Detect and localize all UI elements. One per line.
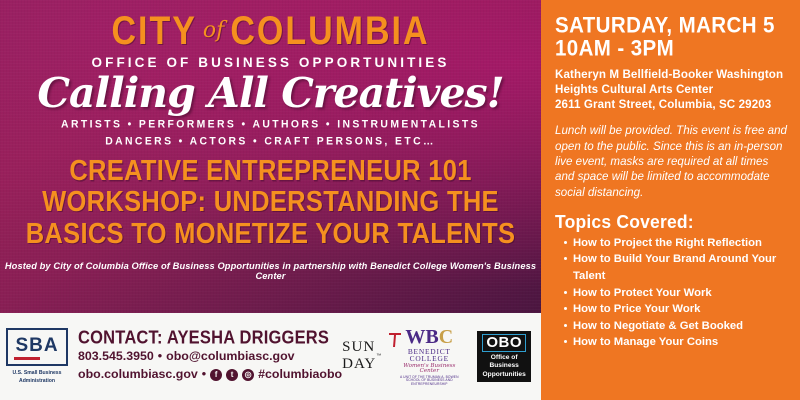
twitter-icon[interactable]: t [226,369,238,381]
contact-block: CONTACT: AYESHA DRIGGERS 803.545.3950 • … [68,329,342,384]
contact-name: CONTACT: AYESHA DRIGGERS [78,328,342,349]
contact-website[interactable]: obo.columbiasc.gov [78,366,198,384]
wbc-benedict-college-logo: WBC BENEDICT COLLEGE Women's Business Ce… [397,327,461,386]
contact-hashtag: #columbiaobo [258,366,342,384]
sunday-logo: SUN DAY ™ [342,339,381,373]
event-details-panel: SATURDAY, MARCH 5 10AM - 3PM Katheryn M … [541,0,800,400]
wbc-letter-c: C [439,326,453,348]
sba-caption: U.S. Small Business Administration [6,370,68,385]
obo-logo: OBO Office of Business Opportunities [477,331,531,382]
partner-logos: SUN DAY ™ WBC BENEDICT COLLEGE Women's B… [342,327,541,386]
sba-logo-mark: SBA [6,328,68,366]
venue-line-2: Heights Cultural Arts Center [555,83,787,98]
wbc-college-name: BENEDICT COLLEGE [397,348,461,363]
sunday-trademark: ™ [376,353,381,359]
sunday-flag-icon [388,332,402,348]
obo-name-line-2: Business [482,362,526,371]
city-word: CITY [111,11,196,51]
event-note: Lunch will be provided. This event is fr… [555,123,787,199]
list-item: How to Manage Your Coins [564,334,787,351]
wbc-fine-print: A UNIT OF THE TRUMAN A. BOWEN SCHOOL OF … [397,376,461,386]
workshop-title: CREATIVE ENTREPRENEUR 101 WORKSHOP: UNDE… [0,157,541,250]
contact-email[interactable]: obo@columbiasc.gov [166,348,294,366]
obo-name-line-1: Office of [482,354,526,363]
obo-name-line-3: Opportunities [482,371,526,380]
sba-acronym: SBA [6,335,68,357]
topics-list: How to Project the Right Reflection How … [555,235,787,351]
venue-address: 2611 Grant Street, Columbia, SC 29203 [555,98,787,113]
list-item: How to Build Your Brand Around Your Tale… [564,251,787,284]
venue-line-1: Katheryn M Bellfield-Booker Washington [555,68,787,83]
list-item: How to Project the Right Reflection [564,235,787,252]
wbc-letters-wb: WB [405,326,438,348]
audience-roles: ARTISTS • PERFORMERS • AUTHORS • INSTRUM… [0,117,541,151]
city-of-columbia-title: CITY of COLUMBIA [0,14,541,48]
facebook-icon[interactable]: f [210,369,222,381]
list-item: How to Negotiate & Get Booked [564,318,787,335]
contact-phone[interactable]: 803.545.3950 [78,348,154,366]
obo-full-name: Office of Business Opportunities [482,354,526,380]
obo-acronym: OBO [482,334,526,352]
contact-phone-email-line: 803.545.3950 • obo@columbiasc.gov [78,348,342,366]
sba-red-accent [14,357,40,360]
instagram-icon[interactable]: ◎ [242,369,254,381]
topics-covered-heading: Topics Covered: [555,211,787,233]
sunday-wordmark: SUN DAY [342,339,376,373]
contact-website-social-line: obo.columbiasc.gov • f t ◎ #columbiaobo [78,366,342,384]
list-item: How to Price Your Work [564,301,787,318]
hosted-by-line: Hosted by City of Columbia Office of Bus… [0,261,541,281]
separator-dot: • [202,366,206,384]
of-script-word: of [203,20,224,42]
roles-line-1: ARTISTS • PERFORMERS • AUTHORS • INSTRUM… [0,117,541,134]
office-of-business-opportunities-subtitle: OFFICE OF BUSINESS OPPORTUNITIES [0,55,541,71]
roles-line-2: DANCERS • ACTORS • CRAFT PERSONS, ETC… [0,134,541,151]
wbc-acronym: WBC [397,327,461,347]
list-item: How to Protect Your Work [564,285,787,302]
left-gradient-panel: CITY of COLUMBIA OFFICE OF BUSINESS OPPO… [0,0,541,313]
event-flyer: CITY of COLUMBIA OFFICE OF BUSINESS OPPO… [0,0,800,400]
event-venue: Katheryn M Bellfield-Booker Washington H… [555,68,787,112]
columbia-word: COLUMBIA [230,11,429,51]
footer-bar: SBA U.S. Small Business Administration C… [0,313,541,400]
separator-dot: • [158,348,162,366]
sba-logo: SBA U.S. Small Business Administration [0,328,68,385]
wbc-center-name: Women's Business Center [397,364,461,375]
calling-all-creatives-headline: Calling All Creatives! [0,72,541,115]
event-time: 10AM - 3PM [555,37,787,62]
